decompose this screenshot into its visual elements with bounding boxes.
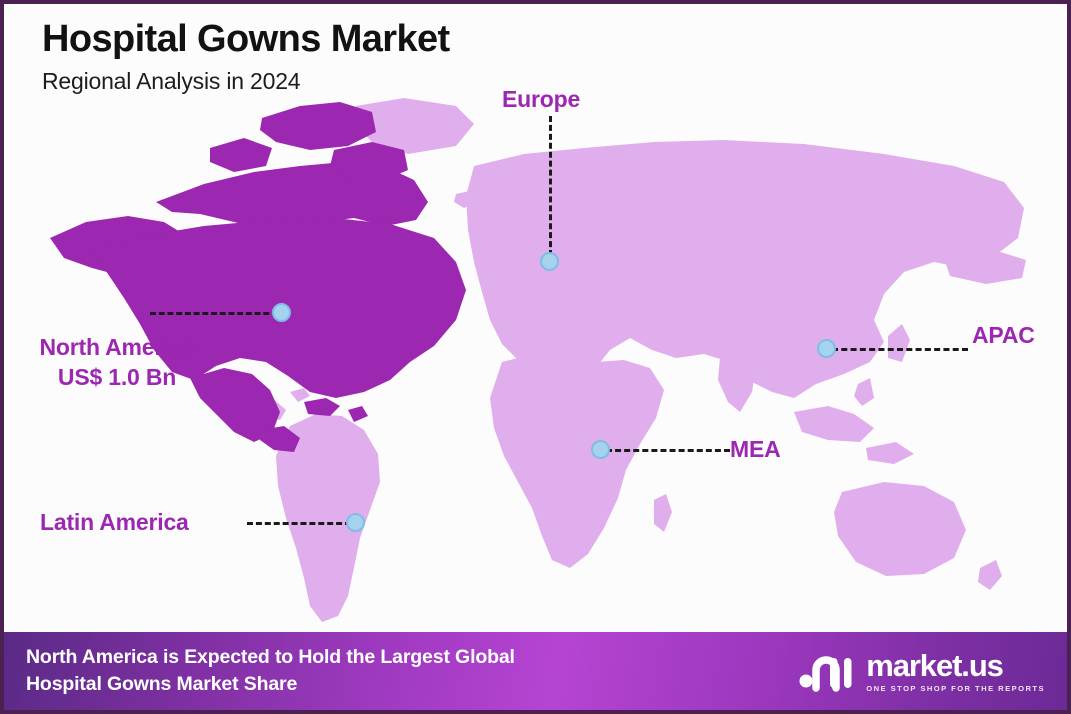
map-dot-latin-america[interactable]: [346, 513, 365, 532]
infographic-page: Hospital Gowns Market Regional Analysis …: [0, 0, 1071, 714]
footer-bar: North America is Expected to Hold the La…: [4, 632, 1067, 710]
footer-headline: North America is Expected to Hold the La…: [26, 644, 515, 698]
map-dot-mea[interactable]: [591, 440, 610, 459]
footer-headline-line2: Hospital Gowns Market Share: [26, 671, 515, 698]
region-label-mea[interactable]: MEA: [730, 436, 781, 463]
market-us-logo[interactable]: market.us ONE STOP SHOP FOR THE REPORTS: [799, 650, 1045, 693]
region-label-latin-america-name: Latin America: [40, 509, 189, 535]
market-us-logo-tagline: ONE STOP SHOP FOR THE REPORTS: [866, 684, 1045, 693]
region-label-north-america[interactable]: North America US$ 1.0 Bn: [22, 332, 212, 393]
region-value-north-america: US$ 1.0 Bn: [22, 362, 212, 392]
region-label-north-america-name: North America: [22, 332, 212, 362]
map-region-north-america-highlight: [50, 102, 466, 452]
map-dot-europe[interactable]: [540, 252, 559, 271]
market-us-logo-text: market.us ONE STOP SHOP FOR THE REPORTS: [866, 650, 1045, 693]
region-label-apac-name: APAC: [972, 322, 1035, 348]
map-dot-north-america[interactable]: [272, 303, 291, 322]
region-label-europe-name: Europe: [502, 86, 580, 112]
region-label-europe[interactable]: Europe: [502, 86, 580, 113]
region-label-latin-america[interactable]: Latin America: [40, 509, 189, 536]
map-dot-apac[interactable]: [817, 339, 836, 358]
footer-headline-line1: North America is Expected to Hold the La…: [26, 644, 515, 671]
page-title: Hospital Gowns Market: [42, 18, 450, 62]
market-us-logo-mark: [799, 650, 855, 692]
region-label-mea-name: MEA: [730, 436, 781, 462]
market-us-logo-word: market.us: [866, 650, 1003, 681]
region-label-apac[interactable]: APAC: [972, 322, 1035, 349]
